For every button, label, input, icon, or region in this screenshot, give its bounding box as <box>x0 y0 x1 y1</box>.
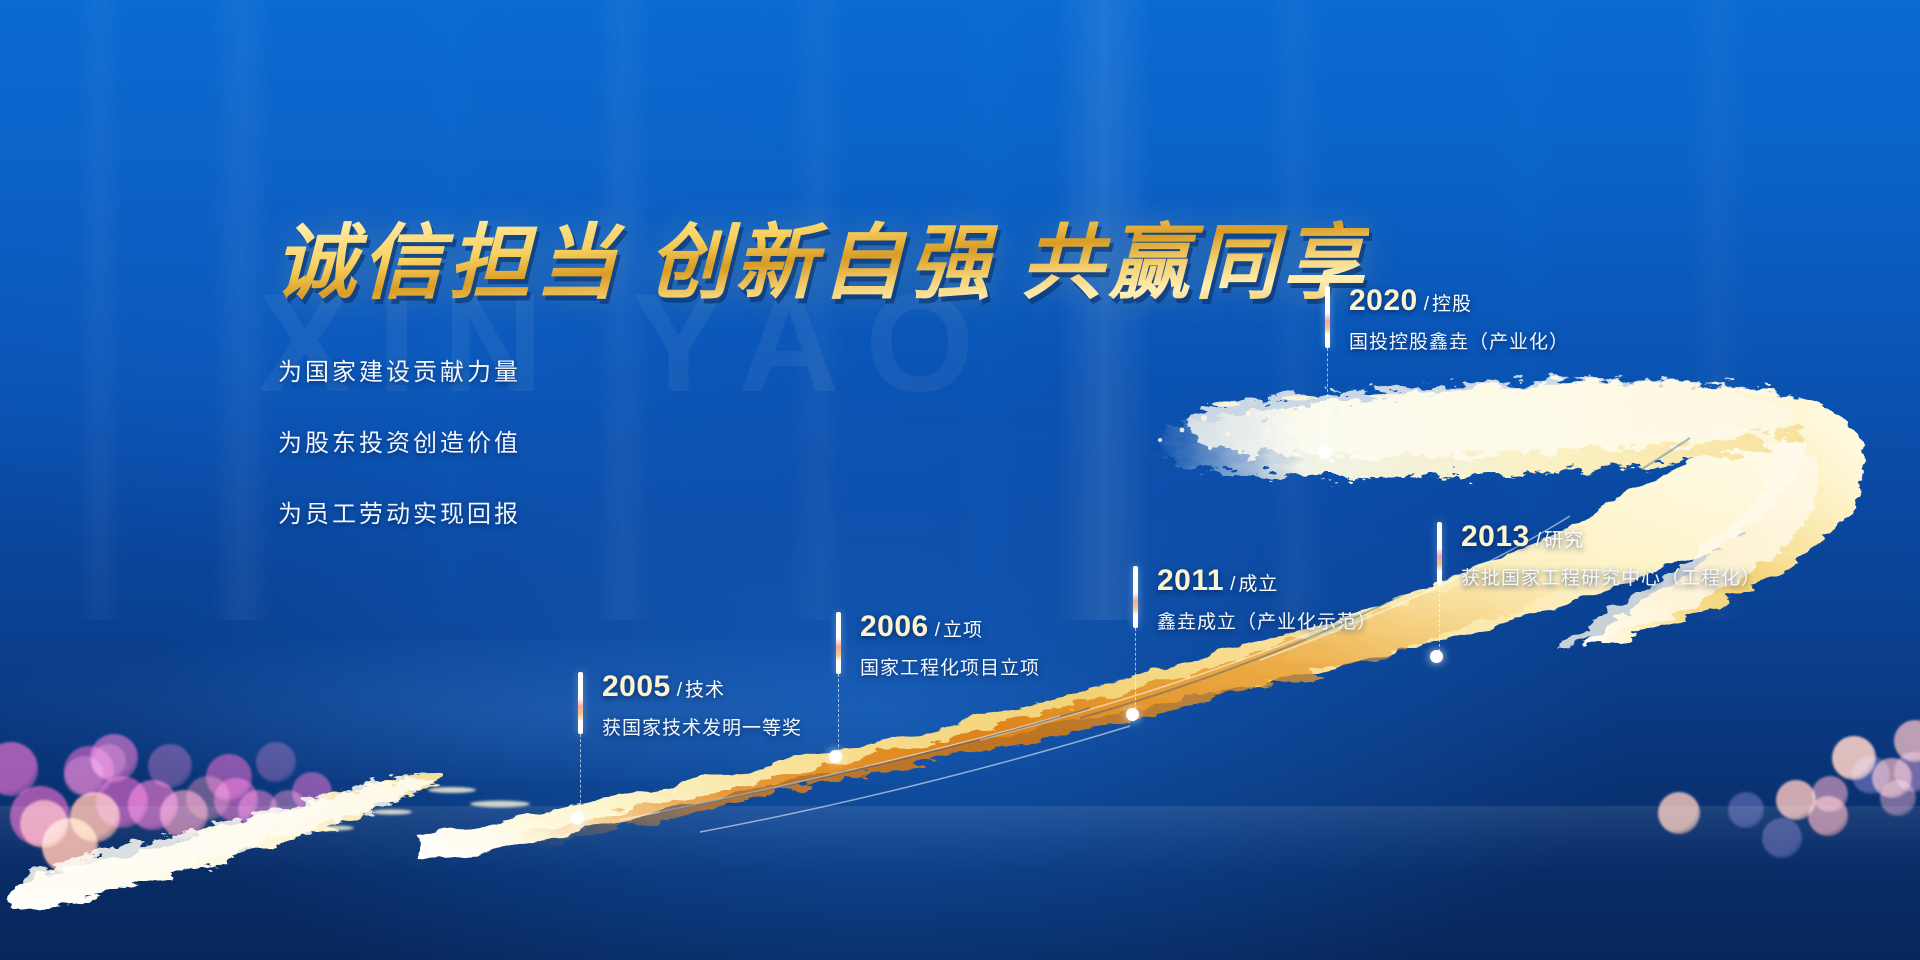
timeline-separator: / <box>677 680 682 701</box>
timeline-heading: 2013/研究 <box>1461 520 1761 554</box>
bokeh-circle <box>292 772 332 812</box>
bokeh-circle <box>1808 796 1848 836</box>
bokeh-circle <box>1658 792 1700 834</box>
timeline-text: 2011/成立鑫垚成立（产业化示范） <box>1157 564 1377 634</box>
slogan-list: 为国家建设贡献力量 为股东投资创造价值 为员工劳动实现回报 <box>278 352 521 565</box>
timeline-marker-dot[interactable] <box>571 812 584 825</box>
bokeh-circle <box>96 776 148 828</box>
timeline-separator: / <box>1230 574 1235 595</box>
bokeh-circle <box>92 744 126 778</box>
timeline-accent-bar <box>1325 286 1330 348</box>
bokeh-circle <box>64 746 114 796</box>
bokeh-circle <box>148 744 192 788</box>
timeline-year: 2013 <box>1461 520 1530 553</box>
timeline-separator: / <box>935 620 940 641</box>
timeline-leader-line <box>580 734 581 818</box>
timeline-tag: 控股 <box>1432 294 1472 315</box>
bokeh-circle <box>10 786 70 846</box>
timeline-marker-dot[interactable] <box>1126 708 1139 721</box>
timeline-description: 国投控股鑫垚（产业化） <box>1349 327 1569 354</box>
timeline-accent-bar <box>1133 566 1138 628</box>
bokeh-circle <box>1776 780 1816 820</box>
slogan-line: 为国家建设贡献力量 <box>278 352 521 387</box>
bokeh-circle <box>186 776 230 820</box>
timeline-accent-bar <box>836 612 841 674</box>
timeline-year: 2020 <box>1349 284 1418 317</box>
timeline-marker-dot[interactable] <box>1430 650 1443 663</box>
timeline-marker-dot[interactable] <box>1318 446 1331 459</box>
timeline-leader-line <box>838 674 839 752</box>
timeline-text: 2013/研究获批国家工程研究中心（工程化） <box>1461 520 1761 590</box>
horizontal-light-band <box>0 806 1920 872</box>
bokeh-circle <box>64 756 104 796</box>
timeline-separator: / <box>1536 530 1541 551</box>
timeline-marker-dot[interactable] <box>829 750 842 763</box>
bokeh-circle <box>1728 792 1764 828</box>
timeline-heading: 2006/立项 <box>860 610 1040 644</box>
timeline-year: 2006 <box>860 610 929 643</box>
timeline-text: 2020/控股国投控股鑫垚（产业化） <box>1349 284 1569 354</box>
bokeh-circle <box>42 818 98 874</box>
bokeh-circle <box>256 742 296 782</box>
banner-canvas: XIN YAO 诚信担当 创新自强 共赢同享 为国家建设贡献力量 为股东投资创造… <box>0 0 1920 960</box>
bokeh-circle <box>1872 758 1912 798</box>
timeline-leader-line <box>1327 348 1328 448</box>
bokeh-circle <box>214 778 258 822</box>
bokeh-circle <box>0 742 38 796</box>
timeline-year: 2005 <box>602 670 671 703</box>
timeline-description: 获批国家工程研究中心（工程化） <box>1461 563 1761 590</box>
timeline-separator: / <box>1424 294 1429 315</box>
timeline-heading: 2011/成立 <box>1157 564 1377 598</box>
timeline-description: 鑫垚成立（产业化示范） <box>1157 607 1377 634</box>
bokeh-circle <box>238 790 278 830</box>
bokeh-circle <box>270 790 306 826</box>
bokeh-circle <box>1894 720 1920 762</box>
bokeh-circle <box>20 800 68 848</box>
slogan-line: 为股东投资创造价值 <box>278 423 521 458</box>
page-title: 诚信担当 创新自强 共赢同享 <box>274 196 1369 315</box>
bokeh-circle <box>1762 818 1802 858</box>
timeline-tag: 立项 <box>943 620 983 641</box>
bokeh-circle <box>1832 736 1876 780</box>
bokeh-circle <box>206 754 252 800</box>
timeline-leader-line <box>1135 628 1136 710</box>
bokeh-circle <box>128 780 178 830</box>
bokeh-circle <box>160 790 208 838</box>
timeline-text: 2006/立项国家工程化项目立项 <box>860 610 1040 680</box>
timeline-accent-bar <box>1437 522 1442 584</box>
timeline-description: 国家工程化项目立项 <box>860 653 1040 680</box>
slogan-line: 为员工劳动实现回报 <box>278 494 521 529</box>
timeline-year: 2011 <box>1157 564 1224 597</box>
bokeh-circle <box>1812 776 1848 812</box>
timeline-tag: 研究 <box>1544 530 1584 551</box>
timeline-description: 获国家技术发明一等奖 <box>602 713 802 740</box>
bokeh-circle <box>1894 752 1920 792</box>
bokeh-circle <box>70 792 120 842</box>
timeline-accent-bar <box>578 672 583 734</box>
bokeh-circle <box>90 734 138 782</box>
timeline-leader-line <box>1439 584 1440 652</box>
timeline-heading: 2020/控股 <box>1349 284 1569 318</box>
timeline-tag: 技术 <box>685 680 725 701</box>
bokeh-circle <box>1880 780 1916 816</box>
timeline-text: 2005/技术获国家技术发明一等奖 <box>602 670 802 740</box>
timeline-heading: 2005/技术 <box>602 670 802 704</box>
bokeh-circle <box>1852 756 1890 794</box>
timeline-tag: 成立 <box>1238 574 1278 595</box>
